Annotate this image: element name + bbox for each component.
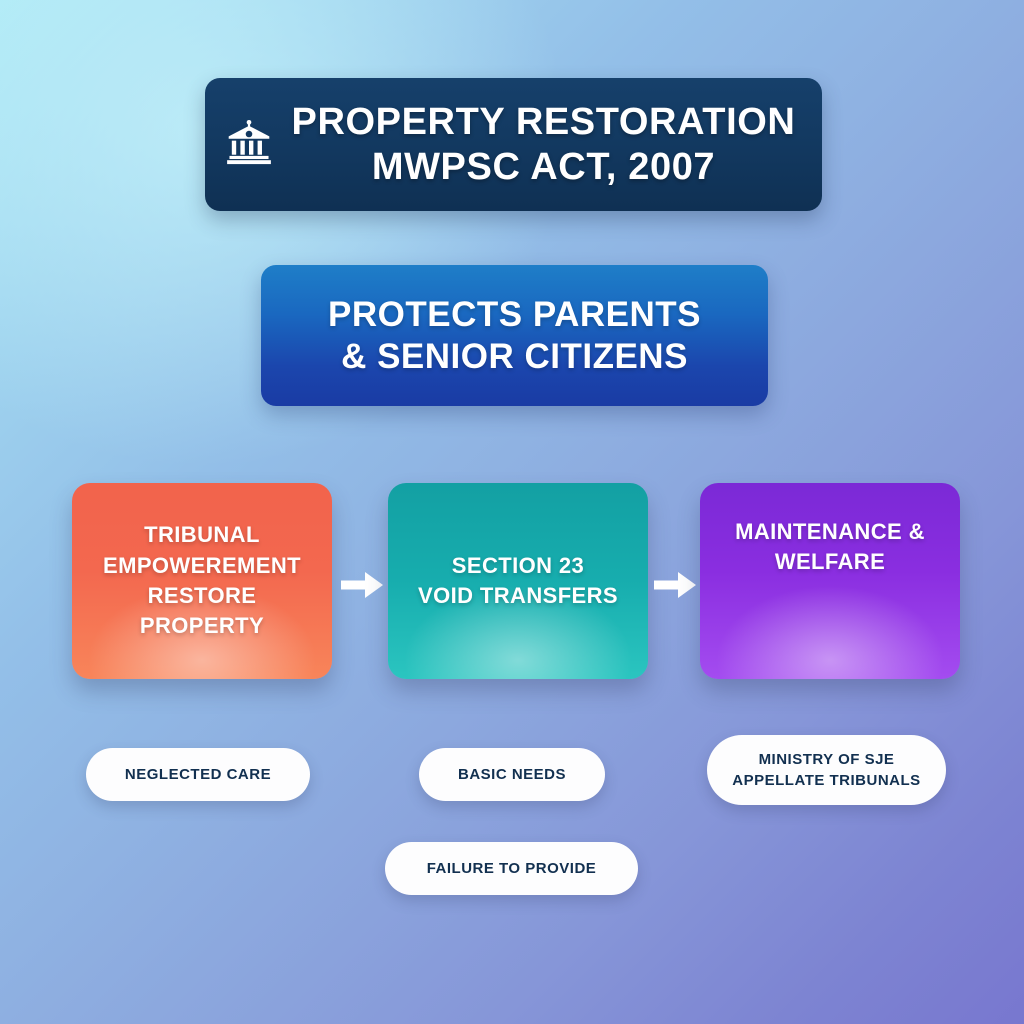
- infographic-canvas: PROPERTY RESTORATION MWPSC ACT, 2007 PRO…: [0, 0, 1024, 1024]
- tag-neglected-care-line1: NEGLECTED CARE: [125, 764, 271, 785]
- header-title-line2: MWPSC ACT, 2007: [292, 145, 796, 190]
- subtitle-text: PROTECTS PARENTS & SENIOR CITIZENS: [328, 294, 701, 378]
- flow-card-tribunal[interactable]: TRIBUNAL EMPOWEREMENT RESTORE PROPERTY: [72, 483, 332, 679]
- flow-card-maintenance-welfare-line1: MAINTENANCE &: [735, 517, 925, 547]
- tag-failure-to-provide-label: FAILURE TO PROVIDE: [427, 858, 597, 879]
- tag-ministry-of-sje-line1: MINISTRY OF SJE: [732, 749, 920, 770]
- flow-card-section-23-line1: SECTION 23: [418, 551, 618, 581]
- tag-failure-to-provide[interactable]: FAILURE TO PROVIDE: [385, 842, 638, 895]
- flow-card-section-23-label: SECTION 23 VOID TRANSFERS: [418, 551, 618, 612]
- arrow-right-icon: [341, 570, 383, 600]
- tag-basic-needs-line1: BASIC NEEDS: [458, 764, 566, 785]
- tag-neglected-care[interactable]: NEGLECTED CARE: [86, 748, 310, 801]
- flow-card-tribunal-line3: RESTORE PROPERTY: [86, 581, 318, 642]
- tag-neglected-care-label: NEGLECTED CARE: [125, 764, 271, 785]
- tag-basic-needs-label: BASIC NEEDS: [458, 764, 566, 785]
- flow-card-section-23[interactable]: SECTION 23 VOID TRANSFERS: [388, 483, 648, 679]
- header-content: PROPERTY RESTORATION MWPSC ACT, 2007: [224, 100, 796, 190]
- bank-building-icon: [224, 118, 274, 168]
- flow-card-maintenance-welfare-line2: WELFARE: [735, 547, 925, 577]
- header-title-line1: PROPERTY RESTORATION: [292, 101, 796, 143]
- tag-ministry-of-sje-line2: APPELLATE TRIBUNALS: [732, 770, 920, 791]
- header-banner: PROPERTY RESTORATION MWPSC ACT, 2007: [205, 78, 822, 211]
- header-title: PROPERTY RESTORATION MWPSC ACT, 2007: [292, 100, 796, 190]
- flow-card-tribunal-line1: TRIBUNAL: [86, 520, 318, 550]
- flow-card-maintenance-welfare[interactable]: MAINTENANCE & WELFARE: [700, 483, 960, 679]
- flow-card-section-23-line2: VOID TRANSFERS: [418, 581, 618, 611]
- tag-ministry-of-sje[interactable]: MINISTRY OF SJE APPELLATE TRIBUNALS: [707, 735, 946, 805]
- tag-basic-needs[interactable]: BASIC NEEDS: [419, 748, 605, 801]
- flow-card-maintenance-welfare-label: MAINTENANCE & WELFARE: [735, 517, 925, 578]
- flow-card-tribunal-label: TRIBUNAL EMPOWEREMENT RESTORE PROPERTY: [86, 520, 318, 641]
- arrow-right-icon: [654, 570, 696, 600]
- subtitle-line1: PROTECTS PARENTS: [328, 295, 701, 334]
- tag-failure-to-provide-line1: FAILURE TO PROVIDE: [427, 858, 597, 879]
- subtitle-line2: & SENIOR CITIZENS: [328, 336, 701, 378]
- subtitle-banner: PROTECTS PARENTS & SENIOR CITIZENS: [261, 265, 768, 406]
- tag-ministry-of-sje-label: MINISTRY OF SJE APPELLATE TRIBUNALS: [732, 749, 920, 792]
- flow-card-tribunal-line2: EMPOWEREMENT: [86, 551, 318, 581]
